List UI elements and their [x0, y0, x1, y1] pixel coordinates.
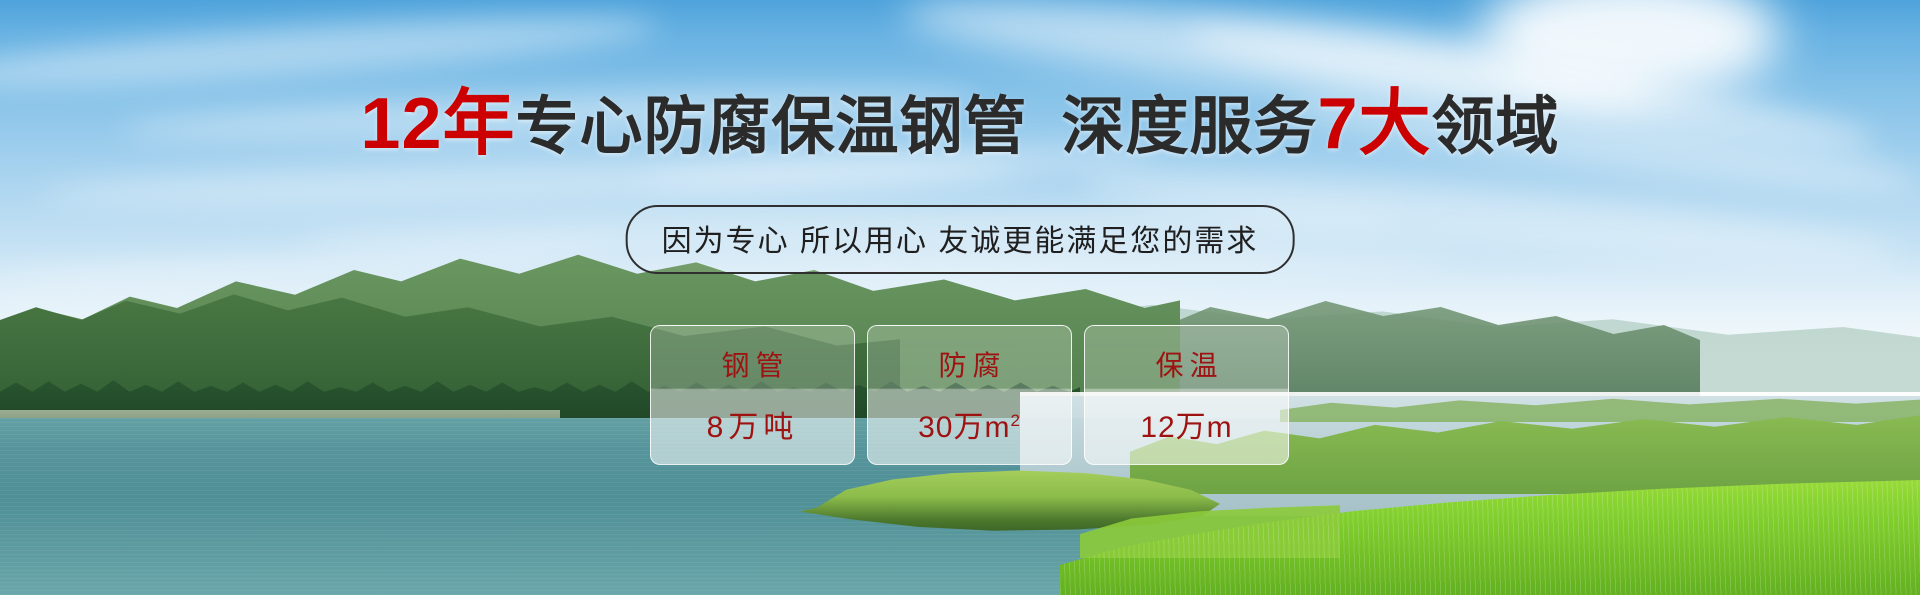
banner-content: 12年专心防腐保温钢管深度服务7大领域 因为专心 所以用心 友诚更能满足您的需求… [0, 0, 1920, 595]
headline-seven: 7大 [1318, 84, 1432, 164]
stat-card-value-text: 12万m [1140, 411, 1232, 444]
stat-card-value: 12万m [1140, 402, 1232, 446]
stats-card-group: 钢管 8万吨 防腐 30万m2 保温 12万m [650, 325, 1289, 465]
subtitle-pill: 因为专心 所以用心 友诚更能满足您的需求 [626, 205, 1295, 274]
stat-card-value: 8万吨 [707, 402, 799, 446]
stat-card-title: 防腐 [932, 344, 1006, 384]
stat-card-title: 钢管 [715, 344, 789, 384]
stat-card-insulation[interactable]: 保温 12万m [1084, 325, 1289, 465]
stat-card-title: 保温 [1149, 344, 1223, 384]
headline-service: 深度服务 [1062, 92, 1318, 162]
headline-fields: 领域 [1432, 92, 1560, 162]
stat-card-anticorrosion[interactable]: 防腐 30万m2 [867, 325, 1072, 465]
stat-card-steel-pipe[interactable]: 钢管 8万吨 [650, 325, 855, 465]
stat-card-value-text: 8万吨 [707, 411, 799, 444]
hero-banner: 12年专心防腐保温钢管深度服务7大领域 因为专心 所以用心 友诚更能满足您的需求… [0, 0, 1920, 595]
headline-years: 12年 [360, 84, 515, 164]
stat-card-value: 30万m2 [918, 402, 1021, 446]
stat-card-value-superscript: 2 [1010, 411, 1020, 430]
headline-main: 专心防腐保温钢管 [516, 92, 1028, 162]
headline: 12年专心防腐保温钢管深度服务7大领域 [0, 88, 1920, 160]
stat-card-value-text: 30万m [918, 411, 1010, 444]
